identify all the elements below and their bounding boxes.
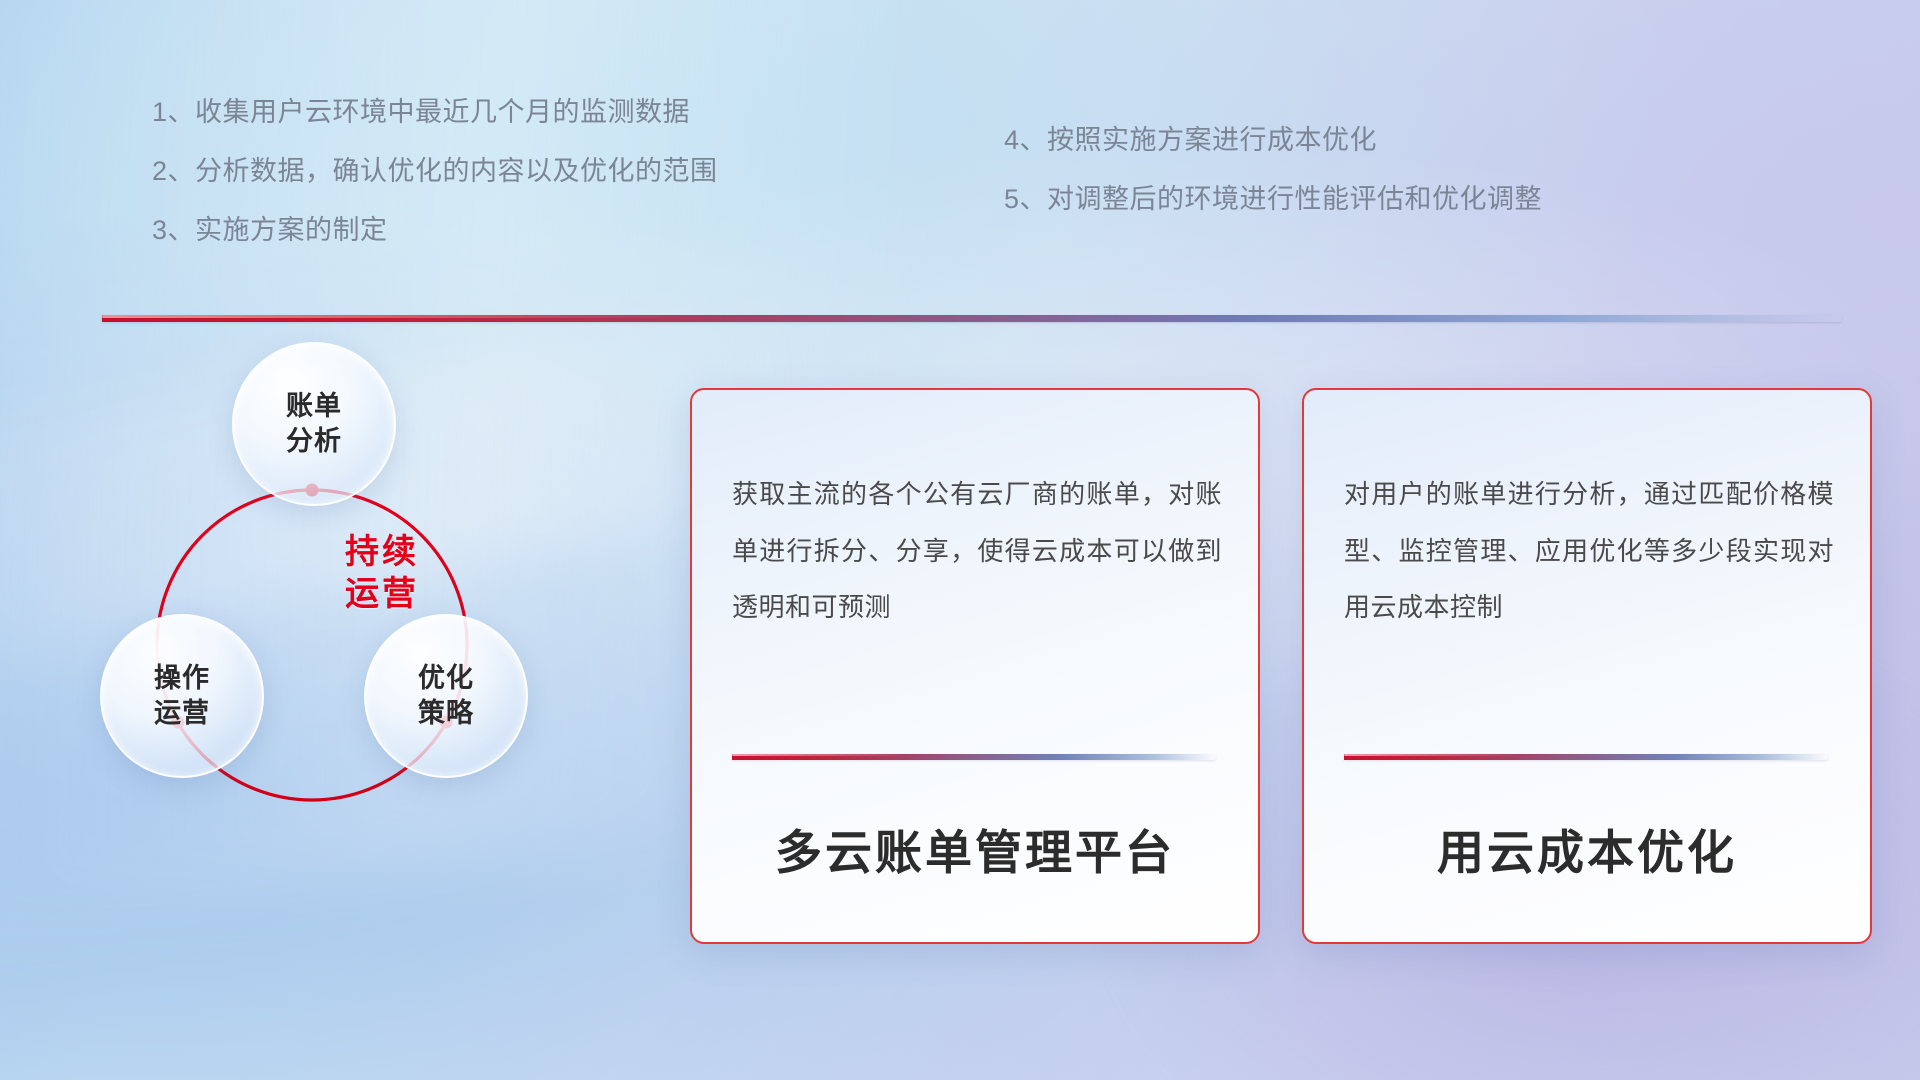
card-title: 用云成本优化 <box>1304 814 1870 883</box>
card-divider-rule <box>732 754 1216 760</box>
bubble-label: 账单分析 <box>286 389 342 458</box>
process-step-item: 2、分析数据，确认优化的内容以及优化的范围 <box>152 158 718 185</box>
slide-canvas: 1、收集用户云环境中最近几个月的监测数据 2、分析数据，确认优化的内容以及优化的… <box>0 0 1920 1080</box>
card-body-text: 获取主流的各个公有云厂商的账单，对账单进行拆分、分享，使得云成本可以做到透明和可… <box>732 466 1222 636</box>
bubble-label: 优化策略 <box>418 661 474 730</box>
bubble-bill-analysis[interactable]: 账单分析 <box>232 342 396 506</box>
bubble-operation[interactable]: 操作运营 <box>100 614 264 778</box>
card-title: 多云账单管理平台 <box>692 814 1258 883</box>
process-steps-right: 4、按照实施方案进行成本优化 5、对调整后的环境进行性能评估和优化调整 <box>1004 127 1542 245</box>
bubble-strategy[interactable]: 优化策略 <box>364 614 528 778</box>
process-step-item: 4、按照实施方案进行成本优化 <box>1004 127 1542 154</box>
card-multi-cloud-bill-platform[interactable]: 获取主流的各个公有云厂商的账单，对账单进行拆分、分享，使得云成本可以做到透明和可… <box>690 388 1260 944</box>
process-step-item: 3、实施方案的制定 <box>152 217 718 244</box>
card-cloud-cost-optimization[interactable]: 对用户的账单进行分析，通过匹配价格模型、监控管理、应用优化等多少段实现对用云成本… <box>1302 388 1872 944</box>
card-body-text: 对用户的账单进行分析，通过匹配价格模型、监控管理、应用优化等多少段实现对用云成本… <box>1344 466 1834 636</box>
process-step-item: 1、收集用户云环境中最近几个月的监测数据 <box>152 99 718 126</box>
process-step-item: 5、对调整后的环境进行性能评估和优化调整 <box>1004 186 1542 213</box>
section-divider-rule <box>102 315 1842 322</box>
bubble-label: 操作运营 <box>154 661 210 730</box>
continuous-operation-diagram: 账单分析 操作运营 优化策略 持续运营 <box>92 352 652 932</box>
process-steps-left: 1、收集用户云环境中最近几个月的监测数据 2、分析数据，确认优化的内容以及优化的… <box>152 99 718 276</box>
card-divider-rule <box>1344 754 1828 760</box>
